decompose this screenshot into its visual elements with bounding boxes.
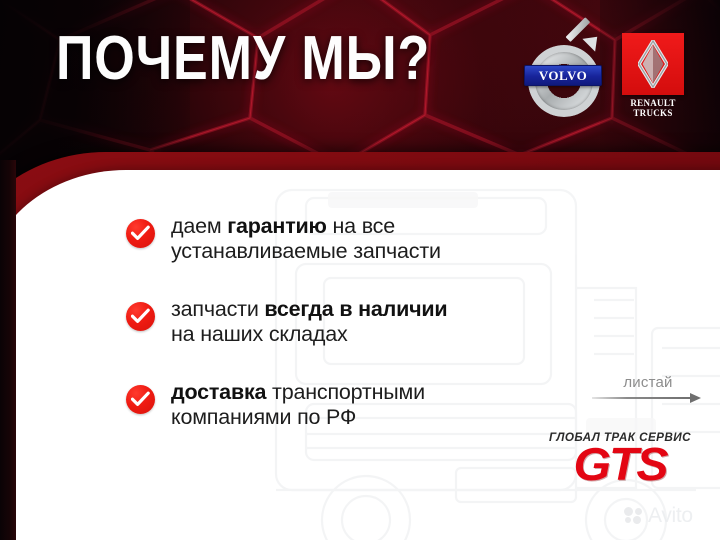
list-item: даем гарантию на все устанавливаемые зап…	[126, 214, 556, 264]
avito-dots-icon	[624, 507, 643, 524]
company-mark: GTS	[536, 442, 704, 486]
list-item-line2: на наших складах	[171, 322, 447, 347]
left-dark-edge	[0, 160, 16, 540]
list-item: доставка транспортными компаниями по РФ	[126, 380, 556, 430]
renault-trucks-logo: RENAULT TRUCKS	[622, 33, 684, 118]
list-item-line2: устанавливаемые запчасти	[171, 239, 441, 264]
check-glyph-icon	[131, 308, 150, 325]
check-glyph-icon	[131, 391, 150, 408]
volvo-wordmark-bar: VOLVO	[524, 65, 602, 86]
avito-wordmark: Avito	[648, 505, 693, 526]
promo-slide: ПОЧЕМУ МЫ? VOLVO RENAULT TRUCKS	[0, 0, 720, 540]
list-item-line1: даем гарантию на все	[171, 214, 441, 239]
arrow-shaft	[592, 397, 692, 399]
renault-line2: TRUCKS	[622, 109, 684, 119]
benefits-list: даем гарантию на все устанавливаемые зап…	[126, 214, 556, 430]
check-glyph-icon	[131, 225, 150, 242]
swipe-hint-label: листай	[592, 374, 704, 391]
list-item-line2: компаниями по РФ	[171, 405, 425, 430]
list-item-line1: доставка транспортными	[171, 380, 425, 405]
renault-red-square	[622, 33, 684, 95]
swipe-hint: листай	[592, 374, 704, 403]
list-item: запчасти всегда в наличии на наших склад…	[126, 297, 556, 347]
arrow-head	[690, 393, 701, 403]
list-item-text: доставка транспортными компаниями по РФ	[171, 380, 425, 430]
check-circle-icon	[126, 219, 155, 248]
avito-watermark: Avito	[624, 505, 693, 526]
renault-diamond-icon	[638, 40, 668, 88]
check-circle-icon	[126, 302, 155, 331]
page-title: ПОЧЕМУ МЫ?	[56, 28, 430, 90]
brand-logos: VOLVO RENAULT TRUCKS	[524, 33, 684, 118]
volvo-logo: VOLVO	[524, 33, 600, 109]
check-circle-icon	[126, 385, 155, 414]
volvo-arrow-head-icon	[582, 30, 603, 51]
volvo-wordmark: VOLVO	[539, 69, 587, 82]
list-item-line1: запчасти всегда в наличии	[171, 297, 447, 322]
list-item-text: запчасти всегда в наличии на наших склад…	[171, 297, 447, 347]
company-logo: ГЛОБАЛ ТРАК СЕРВИС GTS	[540, 432, 700, 486]
arrow-right-icon	[592, 393, 704, 403]
list-item-text: даем гарантию на все устанавливаемые зап…	[171, 214, 441, 264]
renault-wordmark: RENAULT TRUCKS	[622, 99, 684, 118]
